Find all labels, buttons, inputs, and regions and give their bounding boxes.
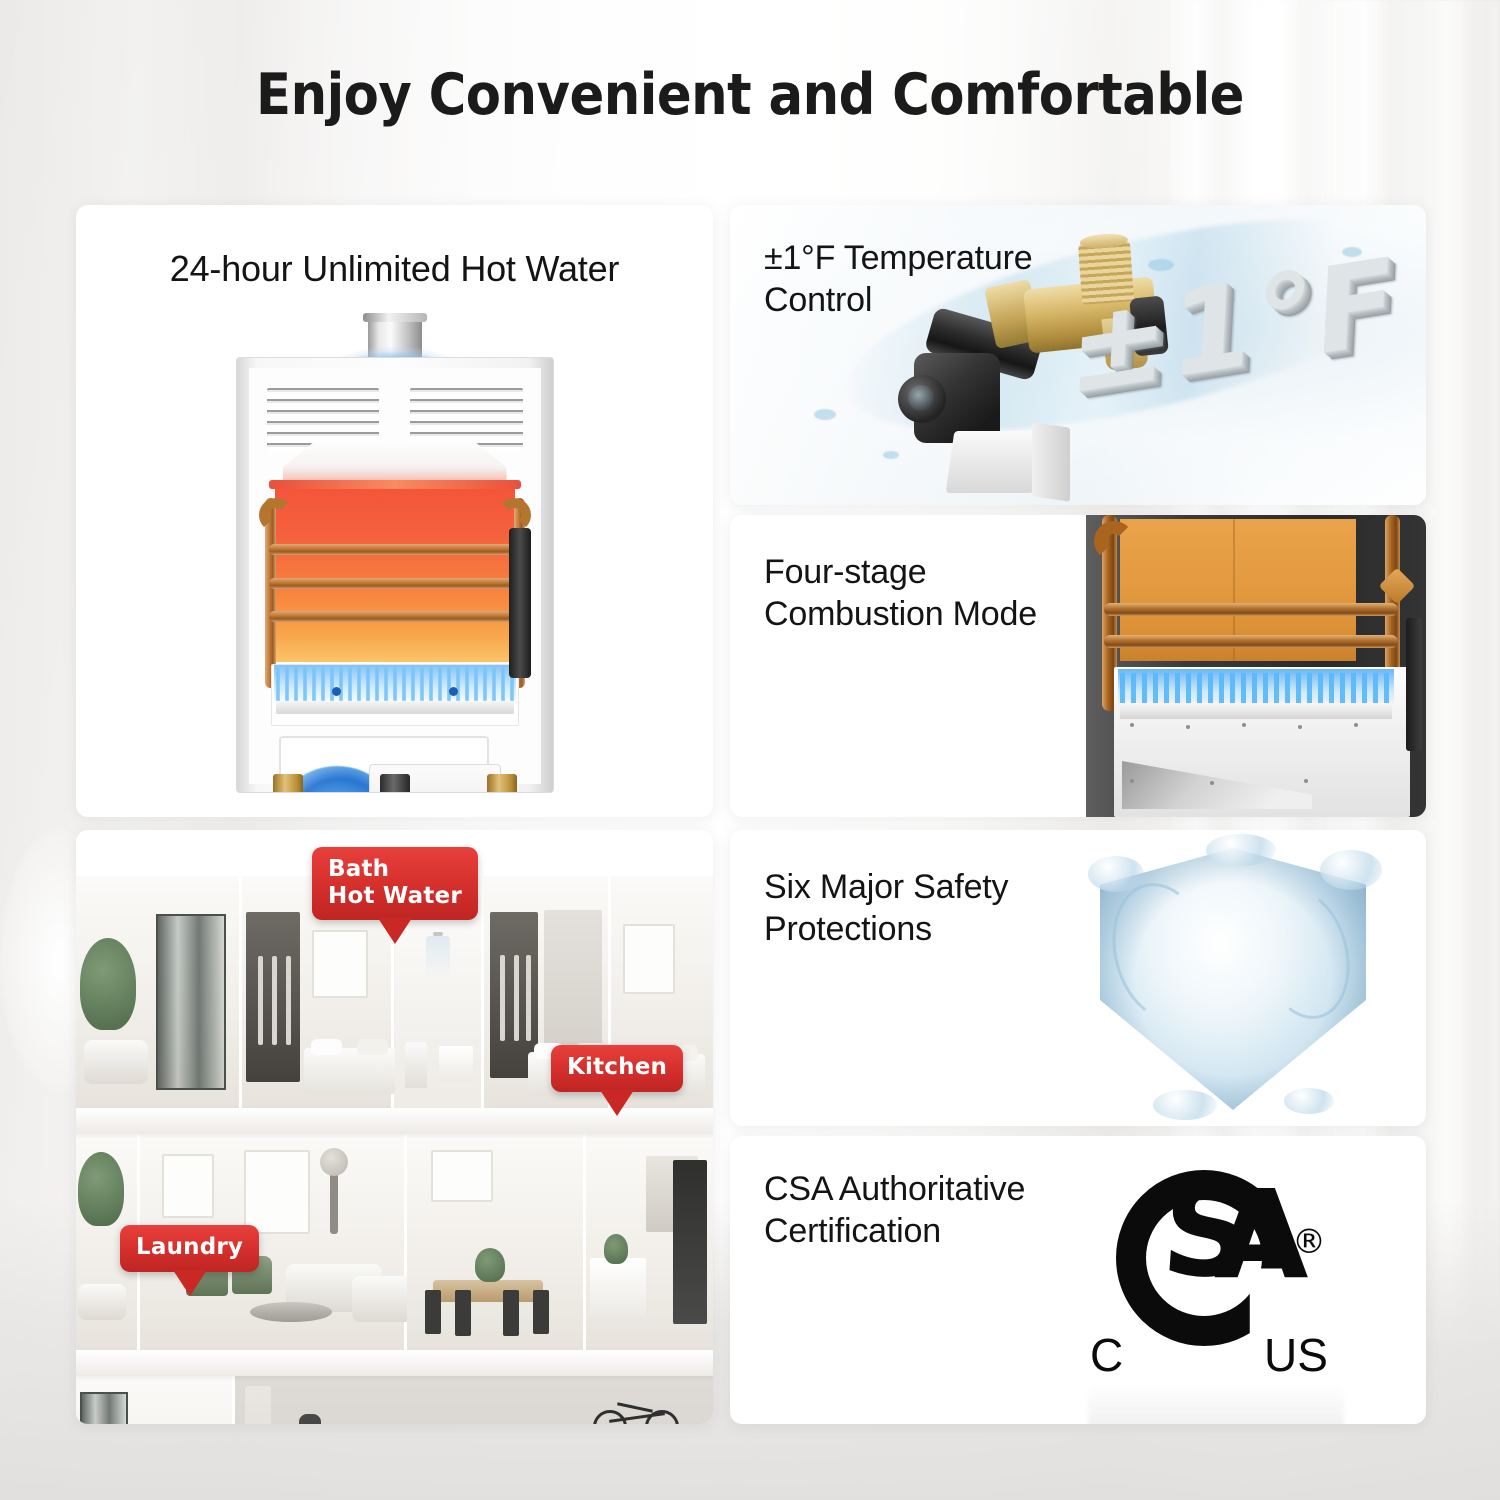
burner-sensor-left <box>332 687 341 696</box>
heater-casing <box>236 357 554 793</box>
house-badge-bath[interactable]: Bath Hot Water <box>312 847 478 920</box>
room-kitchen <box>586 1134 713 1350</box>
water-inlet-fitting <box>273 774 303 793</box>
csa-reflection <box>1088 1384 1344 1424</box>
feature-card-whole-house-coverage[interactable]: Bath Hot Water Kitchen Laundry <box>76 830 713 1424</box>
room-laundry-study <box>76 1376 235 1424</box>
blue-flame-icon <box>276 667 514 701</box>
gas-inlet-fitting <box>380 774 410 793</box>
room-garage <box>235 1376 713 1424</box>
burner-sensor-right <box>449 687 458 696</box>
water-outlet-fitting <box>487 774 517 793</box>
house-floor-bottom <box>76 1376 713 1424</box>
registered-trademark-icon: ® <box>1292 1222 1326 1262</box>
water-heater-illustration <box>236 313 554 793</box>
panel-screws <box>1114 667 1410 817</box>
copper-coil-2 <box>269 578 521 589</box>
combustion-side-module <box>1406 618 1422 751</box>
heat-exchanger-hot-zone <box>275 486 515 662</box>
feature-title-combustion-mode: Four-stage Combustion Mode <box>764 551 1144 635</box>
combustion-copper-coil-1 <box>1104 603 1398 616</box>
feature-title-csa-certification: CSA Authoritative Certification <box>764 1168 1164 1252</box>
heater-interior <box>249 368 541 784</box>
room-balcony <box>76 876 242 1108</box>
valve-bracket <box>1032 422 1070 501</box>
feature-card-safety-protections[interactable]: Six Major Safety Protections <box>730 830 1426 1126</box>
house-slab-2 <box>76 1350 713 1376</box>
feature-card-csa-certification[interactable]: CSA Authoritative Certification S A ® C … <box>730 1136 1426 1424</box>
burner-assembly <box>271 664 519 726</box>
room-dining <box>407 1134 585 1350</box>
feature-title-safety-protections: Six Major Safety Protections <box>764 866 1124 950</box>
csa-label-us: US <box>1264 1328 1328 1382</box>
combustion-copper-coil-2 <box>1104 635 1398 648</box>
valve-mounting-base <box>946 431 1043 493</box>
copper-elbow-right <box>497 498 531 532</box>
water-shield-illustration <box>1100 848 1366 1110</box>
csa-label-canada: C <box>1090 1328 1123 1382</box>
feature-card-unlimited-hot-water[interactable]: 24-hour Unlimited Hot Water <box>76 205 713 817</box>
feature-card-temperature-control[interactable]: ±1°F Temperature Control ±1°F <box>730 205 1426 505</box>
feature-card-combustion-mode[interactable]: Four-stage Combustion Mode <box>730 515 1426 817</box>
house-badge-kitchen[interactable]: Kitchen <box>551 1045 683 1092</box>
ignition-module <box>509 528 531 678</box>
burner-panel <box>1114 667 1410 817</box>
copper-coil-1 <box>269 544 521 555</box>
copper-coil-3 <box>269 611 521 622</box>
bicycle-icon <box>593 1402 679 1424</box>
feature-title-unlimited-hot-water: 24-hour Unlimited Hot Water <box>76 247 713 292</box>
house-badge-laundry[interactable]: Laundry <box>120 1225 259 1272</box>
page-title: Enjoy Convenient and Comfortable <box>0 62 1500 128</box>
valve-flow-sensor-icon <box>898 375 946 423</box>
feature-title-temperature-control: ±1°F Temperature Control <box>764 237 1144 321</box>
house-cutaway-illustration: Bath Hot Water Kitchen Laundry <box>76 830 713 1424</box>
copper-elbow-left <box>259 498 293 532</box>
